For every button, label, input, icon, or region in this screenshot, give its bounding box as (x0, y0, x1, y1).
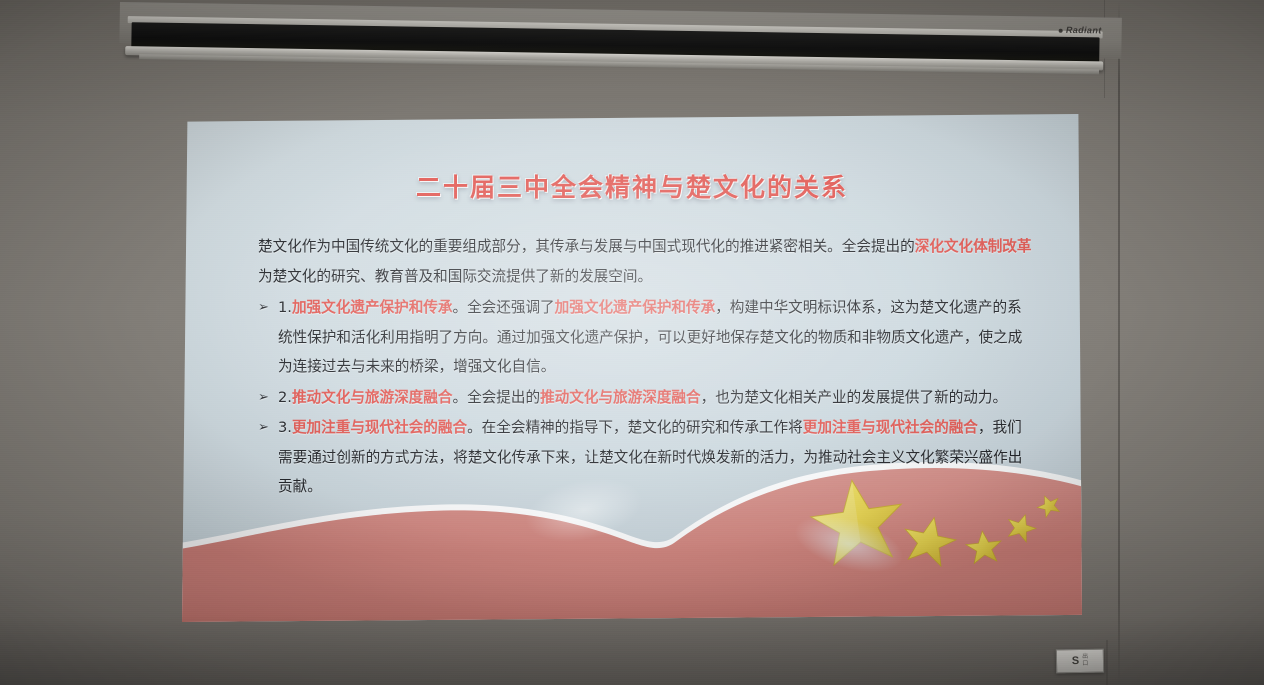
bullet-keyword-1: 加强文化遗产保护和传承 (555, 299, 716, 316)
sign-line-1: 出 (1082, 654, 1088, 660)
intro-highlight: 深化文化体制改革 (915, 238, 1032, 255)
bullet-item-3: ➢ 3.更加注重与现代社会的融合。在全会精神的指导下，楚文化的研究和传承工作将更… (258, 413, 1032, 502)
bullet-text-2: 2.推动文化与旅游深度融合。全会提出的推动文化与旅游深度融合，也为楚文化相关产业… (278, 383, 1032, 413)
wall-exit-sign: S 出 口 (1056, 649, 1104, 674)
bullet-keyword-2: 推动文化与旅游深度融合 (540, 389, 701, 406)
presentation-slide: 二十届三中全会精神与楚文化的关系 楚文化作为中国传统文化的重要组成部分，其传承与… (182, 114, 1082, 622)
slide-title: 二十届三中全会精神与楚文化的关系 (182, 168, 1082, 204)
bullet-heading-3: 更加注重与现代社会的融合 (292, 419, 467, 436)
arrow-bullet-icon: ➢ (258, 383, 278, 413)
bullet-text-3: 3.更加注重与现代社会的融合。在全会精神的指导下，楚文化的研究和传承工作将更加注… (278, 413, 1032, 502)
projected-slide-area: 二十届三中全会精神与楚文化的关系 楚文化作为中国传统文化的重要组成部分，其传承与… (182, 114, 1082, 622)
intro-after: 为楚文化的研究、教育普及和国际交流提供了新的发展空间。 (258, 268, 652, 285)
arrow-bullet-icon: ➢ (258, 413, 278, 443)
arrow-bullet-icon: ➢ (258, 293, 278, 323)
photo-scene: Radiant (0, 0, 1264, 685)
wall-corner-edge (1106, 640, 1108, 685)
wall-seam-line (1118, 0, 1120, 685)
bullet-seg-b-2: ，也为楚文化相关产业的发展提供了新的动力。 (701, 389, 1007, 406)
bullet-number-1: 1. (278, 299, 292, 316)
star-small (965, 529, 1003, 564)
bullet-heading-2: 推动文化与旅游深度融合 (292, 389, 453, 406)
intro-before: 楚文化作为中国传统文化的重要组成部分，其传承与发展与中国式现代化的推进紧密相关。… (258, 238, 915, 255)
sign-line-2: 口 (1082, 661, 1088, 667)
bullet-item-2: ➢ 2.推动文化与旅游深度融合。全会提出的推动文化与旅游深度融合，也为楚文化相关… (258, 383, 1032, 413)
slide-body: 楚文化作为中国传统文化的重要组成部分，其传承与发展与中国式现代化的推进紧密相关。… (258, 232, 1032, 502)
bullet-seg-a-1: 。全会还强调了 (452, 299, 554, 316)
star-micro (1034, 491, 1063, 519)
brand-text: Radiant (1066, 25, 1102, 36)
bullet-keyword-3: 更加注重与现代社会的融合 (803, 419, 978, 436)
sign-glyph: S (1072, 656, 1080, 667)
bullet-item-1: ➢ 1.加强文化遗产保护和传承。全会还强调了加强文化遗产保护和传承，构建中华文明… (258, 293, 1032, 382)
star-medium (899, 512, 959, 568)
bullet-heading-1: 加强文化遗产保护和传承 (292, 299, 453, 316)
bullet-text-1: 1.加强文化遗产保护和传承。全会还强调了加强文化遗产保护和传承，构建中华文明标识… (278, 293, 1032, 382)
intro-paragraph: 楚文化作为中国传统文化的重要组成部分，其传承与发展与中国式现代化的推进紧密相关。… (258, 232, 1032, 291)
bullet-number-2: 2. (278, 389, 292, 406)
sign-text: 出 口 (1082, 654, 1088, 667)
bullet-seg-a-2: 。全会提出的 (452, 389, 540, 406)
star-tiny (1004, 510, 1040, 543)
brand-dot-icon (1059, 28, 1063, 32)
bullet-seg-a-3: 。在全会精神的指导下，楚文化的研究和传承工作将 (467, 419, 803, 436)
bullet-number-3: 3. (278, 419, 292, 436)
housing-brand-label: Radiant (1059, 25, 1102, 36)
